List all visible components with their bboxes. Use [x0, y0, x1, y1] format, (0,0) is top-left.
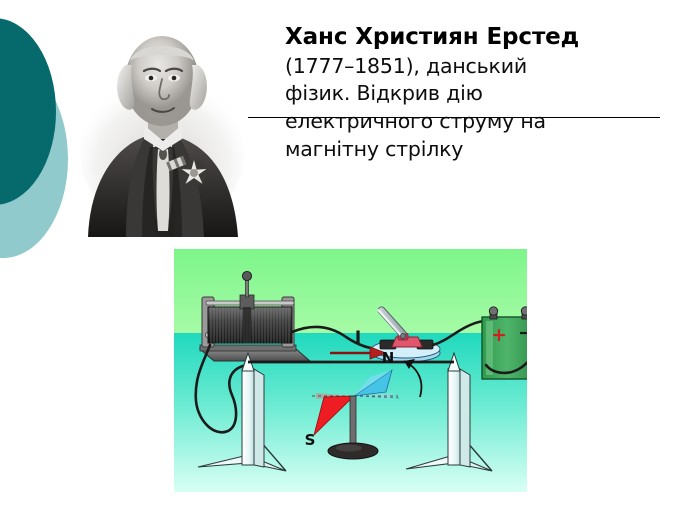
portrait-pupil-left: [149, 76, 154, 81]
portrait-shirt-front: [157, 149, 170, 231]
battery-terminal-plus: [489, 307, 497, 315]
deco-circle-dark-teal: [0, 18, 56, 205]
battery-minus-label: −: [518, 322, 527, 344]
needle-south-label: S: [305, 431, 316, 449]
rheostat-slider-stem: [246, 279, 249, 297]
deco-circle-light-teal: [0, 60, 68, 258]
left-stand-column-face: [254, 369, 264, 467]
compass-stem: [350, 396, 356, 448]
slide-body-line-1: (1777–1851), данський: [285, 53, 685, 81]
rheostat-slider-knob: [242, 271, 251, 280]
needle-north-label: N: [382, 349, 395, 367]
portrait-pupil-right: [172, 76, 177, 81]
rheostat-slider-contact: [243, 307, 251, 343]
portrait-oersted: [70, 21, 250, 237]
current-label: I: [355, 328, 361, 348]
horizontal-divider-rule: [248, 117, 660, 118]
page-title: Ханс Християн Ерстед: [285, 22, 685, 53]
right-stand-column: [448, 369, 460, 465]
battery-plus-label: +: [491, 324, 507, 346]
slide-text-block: Ханс Християн Ерстед (1777–1851), данськ…: [285, 22, 685, 164]
slide-body-line-3: електричного струму на: [285, 108, 685, 136]
oersted-experiment-diagram: + − I: [174, 249, 527, 492]
slide-body-line-4: магнітну стрілку: [285, 136, 685, 164]
left-stand-column: [242, 369, 254, 465]
slide-body-line-2: фізик. Відкрив дію: [285, 80, 685, 108]
switch-pivot: [400, 333, 405, 338]
compass-base-highlight: [336, 445, 362, 452]
battery-terminal-minus: [521, 307, 527, 315]
right-stand-column-face: [460, 369, 470, 467]
